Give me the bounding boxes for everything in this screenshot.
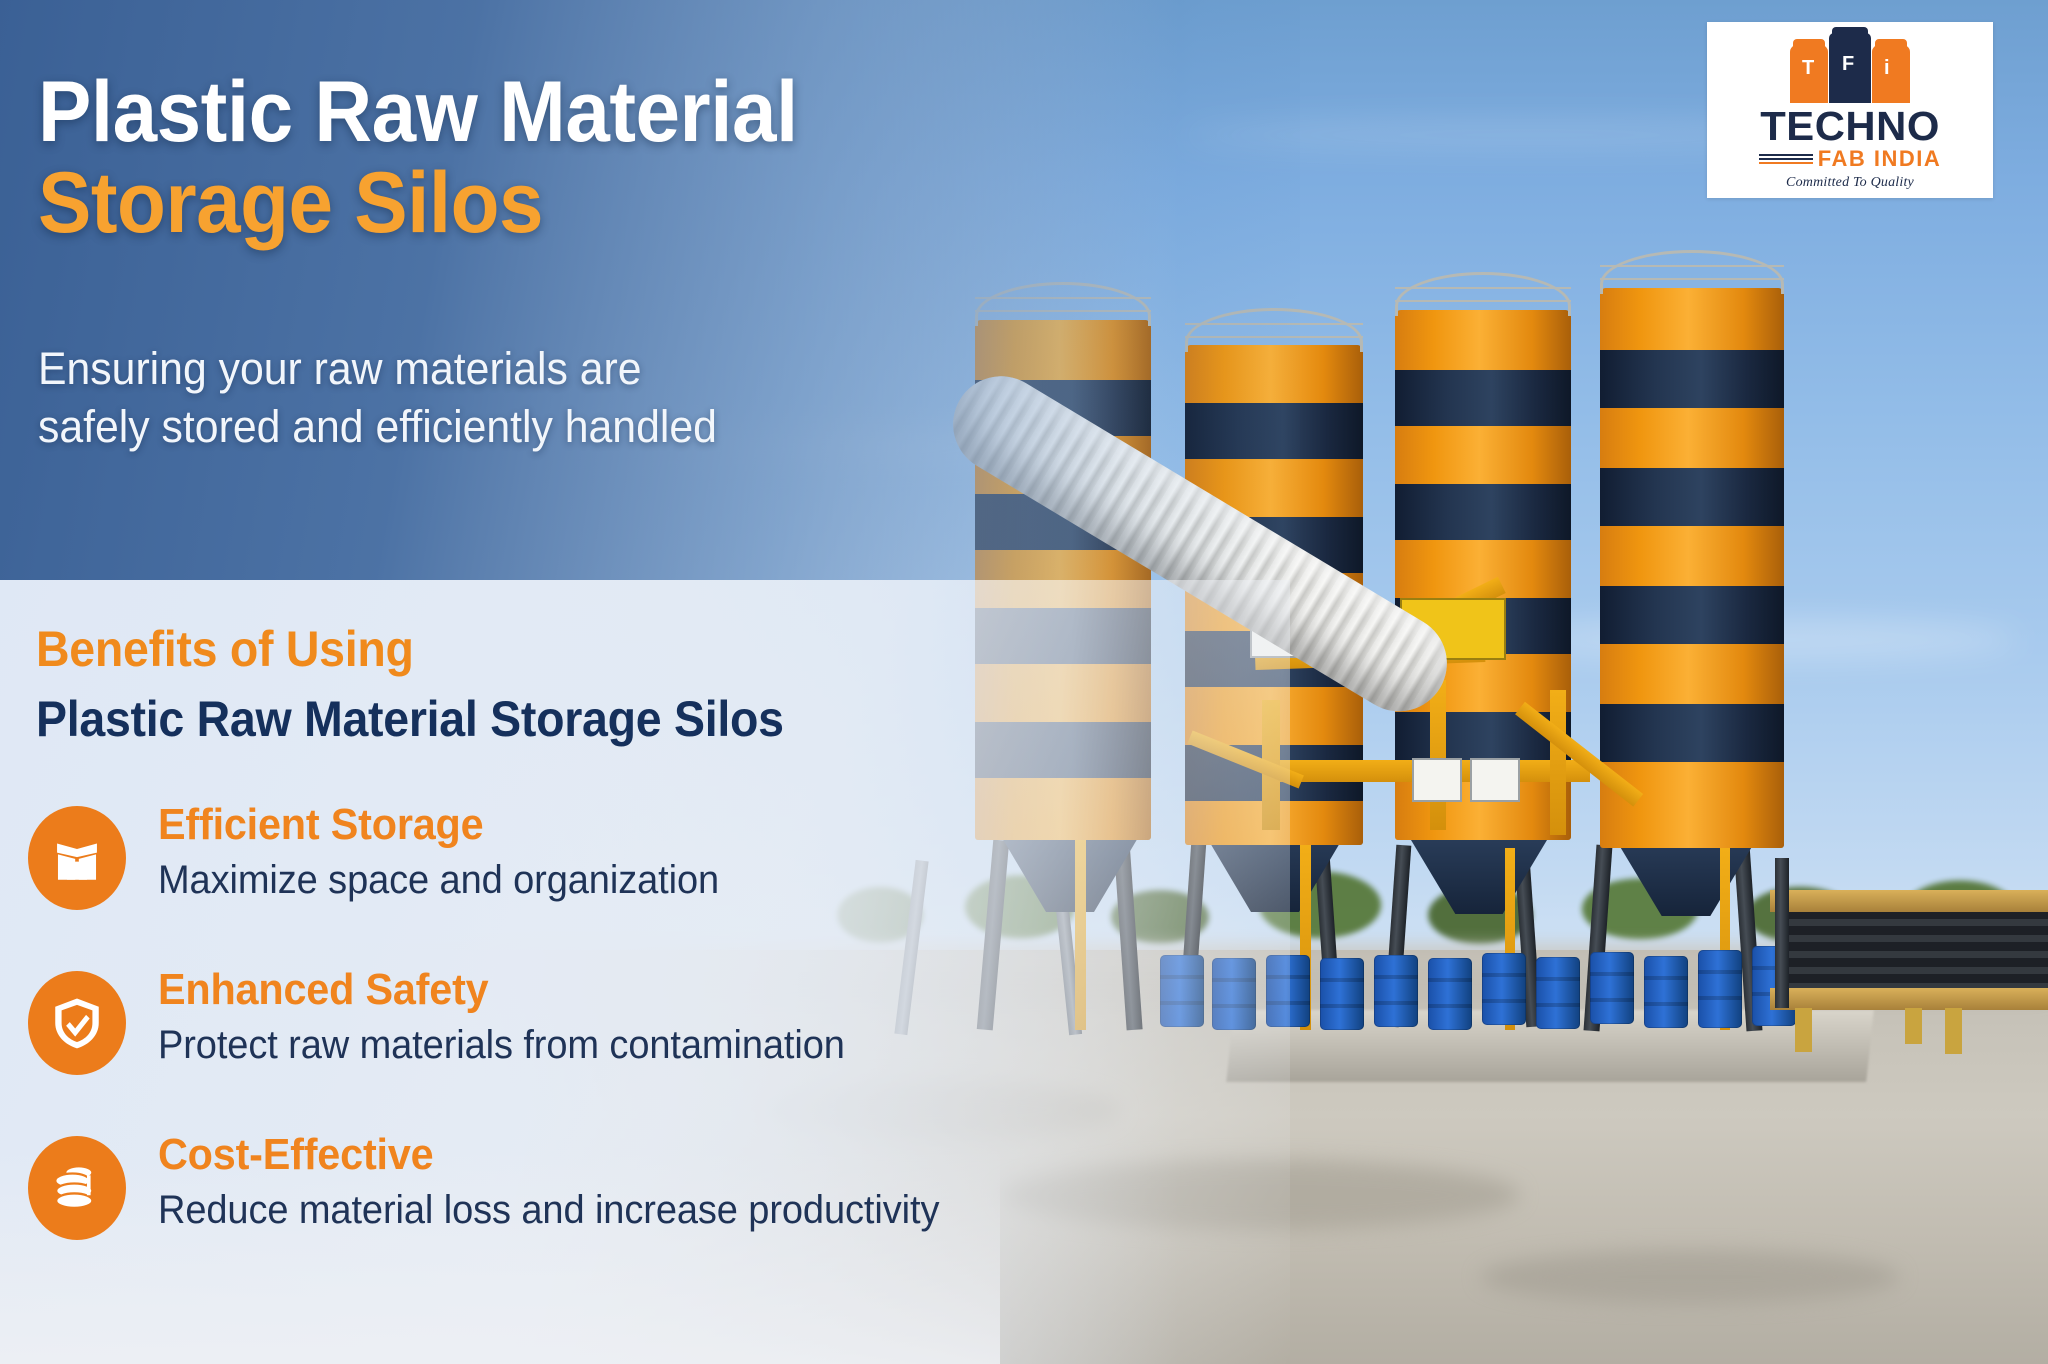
logo-silo-right (1872, 45, 1910, 103)
logo-brand-sub: FAB INDIA (1818, 148, 1942, 170)
title-line-1: Plastic Raw Material (38, 70, 1135, 155)
subtitle-line-2: safely stored and efficiently handled (38, 398, 950, 456)
benefits-heading-line-2: Plastic Raw Material Storage Silos (36, 690, 784, 748)
company-logo[interactable]: T F i TECHNO FAB INDIA Committed To Qual… (1707, 22, 1993, 198)
logo-letter-i: i (1884, 57, 1890, 80)
benefits-heading: Benefits of Using Plastic Raw Material S… (36, 620, 784, 748)
infographic-canvas: Plastic Raw Material Storage Silos Ensur… (0, 0, 2048, 1364)
benefit-title: Cost-Effective (158, 1130, 931, 1180)
benefit-text: Cost-Effective Reduce material loss and … (158, 1130, 980, 1233)
logo-stripes (1759, 153, 1813, 166)
benefits-list: Efficient Storage Maximize space and org… (28, 800, 1088, 1295)
benefits-heading-line-1: Benefits of Using (36, 620, 784, 678)
subtitle-line-1: Ensuring your raw materials are (38, 340, 950, 398)
page-title: Plastic Raw Material Storage Silos (38, 70, 1135, 246)
shield-check-icon (28, 971, 126, 1075)
logo-brand-main: TECHNO (1760, 106, 1940, 147)
benefit-text: Enhanced Safety Protect raw materials fr… (158, 965, 881, 1068)
benefit-description: Protect raw materials from contamination (158, 1023, 845, 1068)
benefit-description: Reduce material loss and increase produc… (158, 1188, 939, 1233)
benefit-item-cost-effective: Cost-Effective Reduce material loss and … (28, 1130, 1088, 1295)
benefit-item-efficient-storage: Efficient Storage Maximize space and org… (28, 800, 1088, 965)
logo-letter-f: F (1842, 53, 1854, 76)
logo-letter-t: T (1802, 57, 1814, 80)
benefit-title: Efficient Storage (158, 800, 713, 850)
title-line-2: Storage Silos (38, 161, 1135, 246)
coins-stack-icon (28, 1136, 126, 1240)
benefit-title: Enhanced Safety (158, 965, 838, 1015)
benefit-text: Efficient Storage Maximize space and org… (158, 800, 749, 903)
page-subtitle: Ensuring your raw materials are safely s… (38, 340, 950, 455)
logo-brand-sub-row: FAB INDIA (1759, 148, 1942, 170)
benefit-item-enhanced-safety: Enhanced Safety Protect raw materials fr… (28, 965, 1088, 1130)
logo-silos-icon: T F i (1790, 31, 1910, 103)
logo-tagline: Committed To Quality (1786, 175, 1914, 191)
open-box-icon (28, 806, 126, 910)
benefit-description: Maximize space and organization (158, 858, 719, 903)
